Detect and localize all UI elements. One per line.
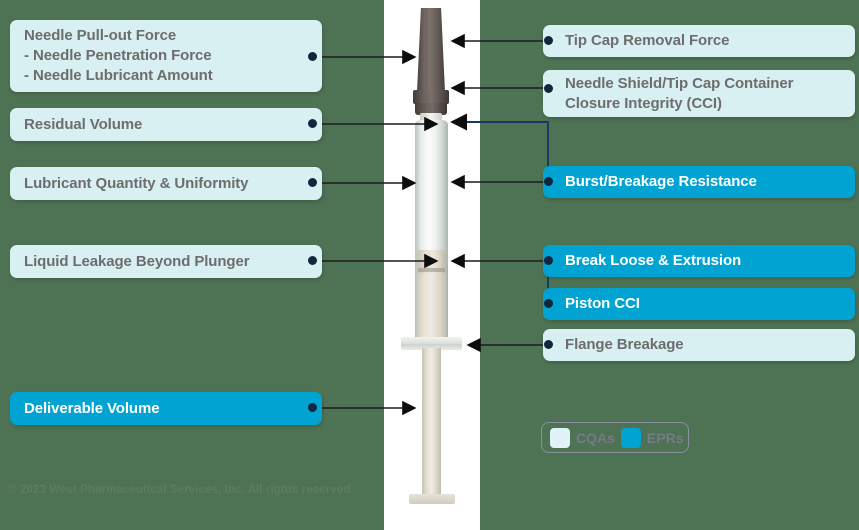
connector-dot-burst-breakage-resistance xyxy=(544,177,553,186)
label-text: Residual Volume xyxy=(24,115,142,135)
connector-dot-deliverable-volume xyxy=(308,403,317,412)
legend-label-epr: EPRs xyxy=(647,430,684,446)
label-break-loose-extrusion[interactable]: Break Loose & Extrusion xyxy=(543,245,855,277)
label-text: Needle Shield/Tip Cap Container Closure … xyxy=(565,74,793,114)
label-residual-volume[interactable]: Residual Volume xyxy=(10,108,322,141)
label-burst-breakage-resistance[interactable]: Burst/Breakage Resistance xyxy=(543,166,855,198)
label-needle-shield-tip-cap-cci[interactable]: Needle Shield/Tip Cap Container Closure … xyxy=(543,70,855,117)
legend: CQAs EPRs xyxy=(541,422,689,453)
label-piston-cci[interactable]: Piston CCI xyxy=(543,288,855,320)
label-text: Lubricant Quantity & Uniformity xyxy=(24,174,248,194)
label-text: Break Loose & Extrusion xyxy=(565,251,741,271)
diagram-canvas: Needle Pull-out Force - Needle Penetrati… xyxy=(0,0,859,530)
label-lubricant-quantity-uniformity[interactable]: Lubricant Quantity & Uniformity xyxy=(10,167,322,200)
connector-dot-needle-shield-tip-cap-cci xyxy=(544,84,553,93)
legend-label-cqa: CQAs xyxy=(576,430,615,446)
label-needle-pull-out-force[interactable]: Needle Pull-out Force - Needle Penetrati… xyxy=(10,20,322,92)
connector-dot-lubricant-quantity-uniformity xyxy=(308,178,317,187)
label-text: Needle Pull-out Force - Needle Penetrati… xyxy=(24,26,213,86)
legend-swatch-cqa-icon xyxy=(550,428,570,448)
connector-dot-break-loose-extrusion xyxy=(544,256,553,265)
connector-dot-residual-volume xyxy=(308,119,317,128)
label-text: Tip Cap Removal Force xyxy=(565,31,729,51)
connector-dot-needle-pull-out-force xyxy=(308,52,317,61)
label-liquid-leakage-beyond-plunger[interactable]: Liquid Leakage Beyond Plunger xyxy=(10,245,322,278)
connector-dot-liquid-leakage-beyond-plunger xyxy=(308,256,317,265)
label-text: Flange Breakage xyxy=(565,335,684,355)
legend-swatch-epr-icon xyxy=(621,428,641,448)
label-text: Deliverable Volume xyxy=(24,399,159,419)
copyright-notice: © 2023 West Pharmaceutical Services, Inc… xyxy=(8,484,351,496)
connector-dot-tip-cap-removal-force xyxy=(544,36,553,45)
label-text: Burst/Breakage Resistance xyxy=(565,172,757,192)
connector-dot-flange-breakage xyxy=(544,340,553,349)
label-text: Liquid Leakage Beyond Plunger xyxy=(24,252,249,272)
connector-dot-piston-cci xyxy=(544,299,553,308)
label-deliverable-volume[interactable]: Deliverable Volume xyxy=(10,392,322,425)
label-flange-breakage[interactable]: Flange Breakage xyxy=(543,329,855,361)
label-tip-cap-removal-force[interactable]: Tip Cap Removal Force xyxy=(543,25,855,57)
label-text: Piston CCI xyxy=(565,294,640,314)
